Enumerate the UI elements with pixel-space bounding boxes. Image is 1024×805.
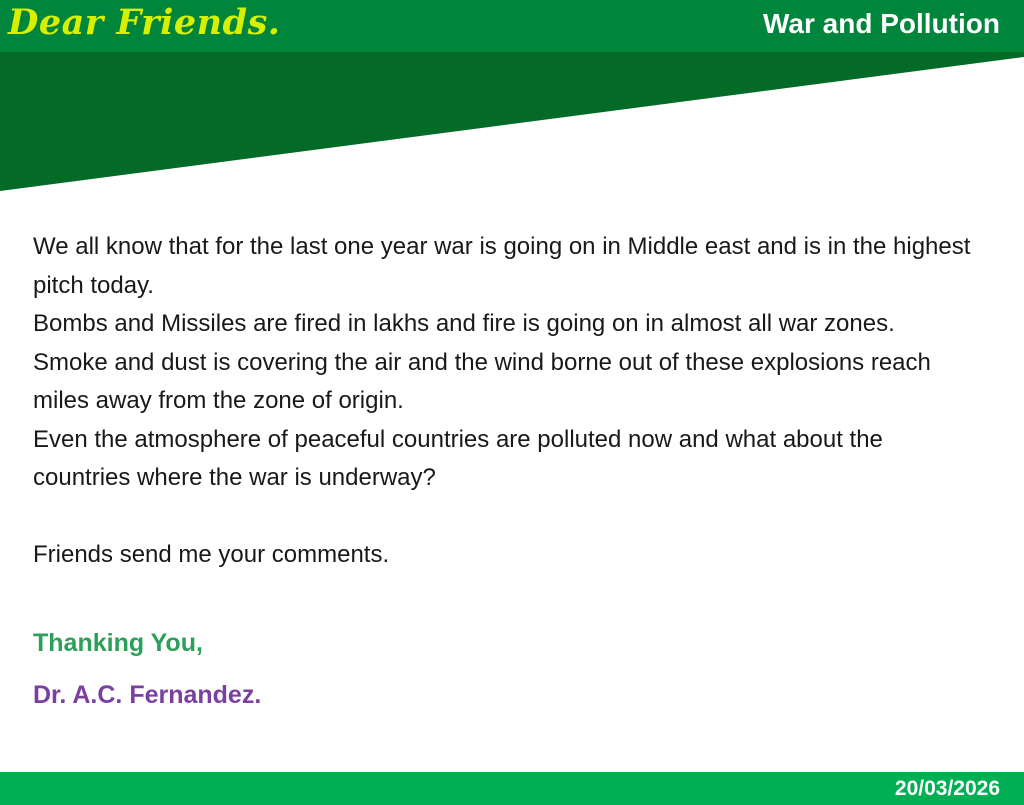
diagonal-accent-shape — [0, 52, 1024, 192]
footer-date: 20/03/2026 — [895, 776, 1000, 802]
body-paragraph-4: Even the atmosphere of peaceful countrie… — [33, 421, 983, 498]
paragraph-spacer — [33, 498, 983, 536]
body-paragraph-2: Bombs and Missiles are fired in lakhs an… — [33, 305, 983, 344]
footer-bar: 20/03/2026 — [0, 772, 1024, 805]
body-paragraph-1: We all know that for the last one year w… — [33, 228, 983, 305]
signature-thanks: Thanking You, — [33, 617, 633, 669]
call-to-action-text: Friends send me your comments. — [33, 536, 983, 575]
presentation-slide: Dear Friends. War and Pollution We all k… — [0, 0, 1024, 805]
page-title: War and Pollution — [763, 6, 1000, 42]
deck-title: Dear Friends. — [8, 1, 280, 45]
signature-block: Thanking You, Dr. A.C. Fernandez. — [33, 617, 633, 721]
slide-body: We all know that for the last one year w… — [33, 228, 983, 574]
signature-name: Dr. A.C. Fernandez. — [33, 669, 633, 721]
body-paragraph-3: Smoke and dust is covering the air and t… — [33, 344, 983, 421]
